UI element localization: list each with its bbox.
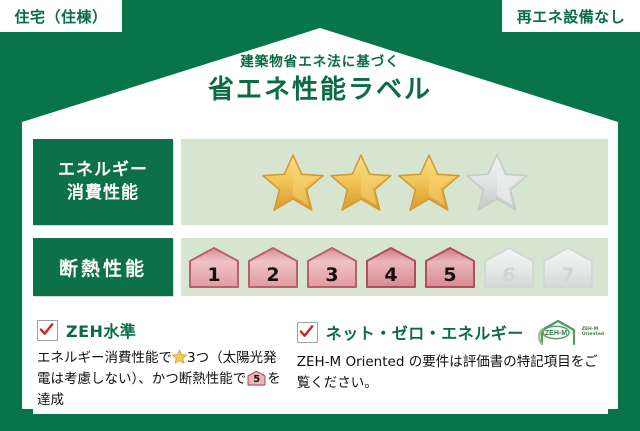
zeh-m-logo: ZEH-M ZEH-M Oriented (536, 318, 604, 346)
tag-renewable-energy: 再エネ設備なし (502, 0, 640, 32)
grade-badge-2: 2 (246, 245, 300, 289)
inline-grade-label: 5 (247, 373, 266, 386)
energy-label-card: 住宅（住棟） 再エネ設備なし 建築物省エネ法に基づく 省エネ性能ラベル エネルギ… (0, 0, 640, 431)
grade-badge-label-6: 6 (502, 264, 515, 289)
star-icon-filled-2 (330, 152, 392, 212)
grade-badge-3: 3 (305, 245, 359, 289)
star-icon-filled-3 (398, 152, 460, 212)
check-icon (299, 324, 314, 339)
svg-text:ZEH-M: ZEH-M (545, 330, 567, 337)
row-insulation-body: 1 2 3 (181, 238, 608, 296)
row-energy-body (181, 139, 608, 225)
grade-badge-1: 1 (187, 245, 241, 289)
grade-badge-label-5: 5 (443, 264, 456, 289)
tag-building-type: 住宅（住棟） (0, 0, 122, 32)
grade-badge-label-4: 4 (384, 264, 397, 289)
grade-badge-4: 4 (364, 245, 418, 289)
row-insulation-label-text: 断熱性能 (59, 254, 147, 281)
inline-star-icon (172, 349, 187, 364)
checkbox-zeh-standard[interactable] (37, 320, 58, 341)
row-energy-label: エネルギー 消費性能 (33, 139, 173, 225)
row-energy-label-line1: エネルギー (58, 159, 148, 182)
row-energy-label-line2: 消費性能 (67, 182, 139, 205)
inline-grade-badge: 5 (247, 370, 266, 386)
note-zeh-standard-title: ZEH水準 (66, 318, 136, 342)
grade-badge-6: 6 (482, 245, 536, 289)
title-block: 建築物省エネ法に基づく 省エネ性能ラベル (0, 54, 640, 106)
zeh-m-logo-subtext-line2: Oriented (582, 332, 604, 337)
note-net-zero-energy-header: ネット・ゼロ・エネルギー ZEH-M ZEH-M Oriented (297, 318, 604, 346)
tag-renewable-energy-label: 再エネ設備なし (517, 6, 626, 27)
row-insulation-label: 断熱性能 (33, 238, 173, 296)
note-net-zero-energy: ネット・ゼロ・エネルギー ZEH-M ZEH-M Oriented ZEH-M … (287, 310, 608, 414)
row-insulation-performance: 断熱性能 1 2 (33, 238, 608, 296)
check-icon (39, 322, 54, 337)
note-zeh-standard-header: ZEH水準 (37, 318, 283, 342)
page-title: 省エネ性能ラベル (0, 75, 640, 106)
star-rating (262, 152, 528, 212)
note-net-zero-energy-body: ZEH-M Oriented の要件は評価書の特記項目をご覧ください。 (297, 352, 604, 394)
grade-badge-label-1: 1 (207, 264, 220, 289)
star-icon-filled-1 (262, 152, 324, 212)
star-icon-empty-4 (466, 152, 528, 212)
note-zeh-standard: ZEH水準 エネルギー消費性能で3つ（太陽光発電は考慮しない）、かつ断熱性能で5… (33, 310, 287, 414)
grade-badge-label-2: 2 (266, 264, 279, 289)
grade-badge-5: 5 (423, 245, 477, 289)
note-zeh-body-part1: エネルギー消費性能で (37, 350, 172, 366)
title-subtitle: 建築物省エネ法に基づく (0, 54, 640, 70)
zeh-m-house-icon: ZEH-M (536, 318, 580, 346)
zeh-m-logo-subtext: ZEH-M Oriented (582, 327, 604, 337)
note-zeh-standard-body: エネルギー消費性能で3つ（太陽光発電は考慮しない）、かつ断熱性能で5を達成 (37, 348, 283, 411)
note-net-zero-energy-title: ネット・ゼロ・エネルギー (326, 320, 524, 344)
grade-badge-label-3: 3 (325, 264, 338, 289)
grade-badge-7: 7 (541, 245, 595, 289)
tag-building-type-label: 住宅（住棟） (14, 6, 107, 27)
checkbox-net-zero-energy[interactable] (297, 322, 318, 343)
notes-panel: ZEH水準 エネルギー消費性能で3つ（太陽光発電は考慮しない）、かつ断熱性能で5… (33, 310, 608, 414)
row-energy-performance: エネルギー 消費性能 (33, 139, 608, 225)
grade-badge-label-7: 7 (561, 264, 574, 289)
insulation-grade-scale: 1 2 3 (187, 245, 595, 289)
